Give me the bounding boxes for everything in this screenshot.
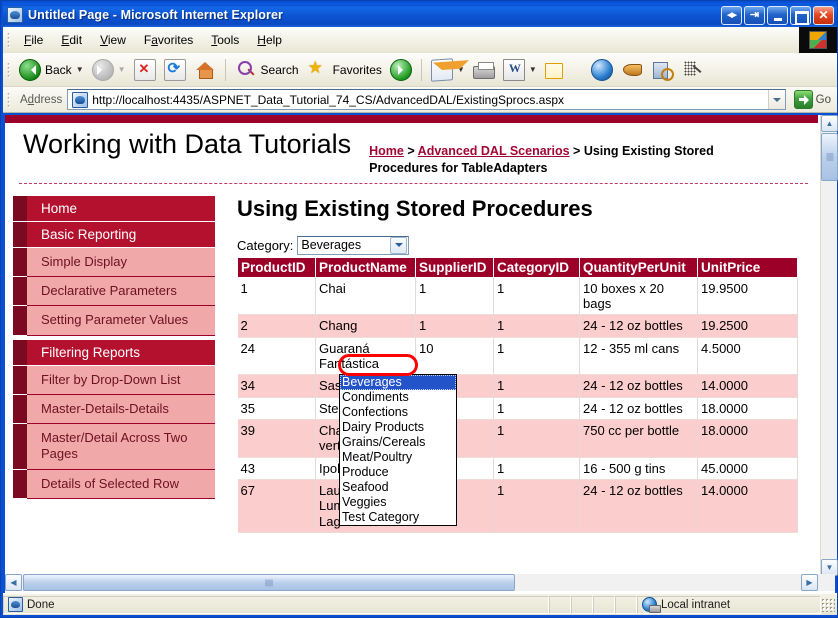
- edit-word-icon: [503, 59, 525, 81]
- cell-categoryid: 1: [494, 457, 580, 479]
- cell-unitprice: 18.0000: [698, 420, 798, 458]
- refresh-button[interactable]: [160, 57, 190, 83]
- cell-categoryid: 1: [494, 397, 580, 419]
- sidebar-item-filter-by-drop-down-list[interactable]: Filter by Drop-Down List: [27, 366, 215, 395]
- globe-icon: [591, 59, 613, 81]
- main-content: Using Existing Stored Procedures Categor…: [215, 184, 818, 533]
- cell-productid: 2: [238, 315, 316, 337]
- restore-right-button[interactable]: [744, 6, 765, 25]
- breadcrumb: Home > Advanced DAL Scenarios > Using Ex…: [369, 143, 719, 177]
- cell-productname: Chai: [316, 277, 416, 315]
- go-button[interactable]: Go: [788, 90, 837, 109]
- cell-unitprice: 4.5000: [698, 337, 798, 375]
- resize-grip[interactable]: [821, 598, 835, 612]
- back-icon: [19, 59, 41, 81]
- sidebar-item-details-of-selected-row[interactable]: Details of Selected Row: [27, 470, 215, 499]
- edit-html-button[interactable]: [677, 57, 707, 83]
- address-grip[interactable]: [7, 92, 10, 108]
- back-button[interactable]: Back ▼: [15, 57, 88, 83]
- research-icon: [651, 59, 673, 81]
- mail-icon: [431, 58, 453, 82]
- ie-document-icon: [7, 7, 23, 23]
- cell-productid: 24: [238, 337, 316, 375]
- cell-supplierid: 10: [416, 337, 494, 375]
- scroll-left-button[interactable]: ◀: [5, 574, 22, 591]
- table-row: 34 Sasquatch Ale 16 1 24 - 12 oz bottles…: [238, 375, 798, 397]
- back-label: Back: [45, 63, 72, 77]
- toolbar-separator-3: [572, 59, 582, 81]
- home-icon: [194, 59, 216, 81]
- vertical-scroll-thumb[interactable]: [821, 133, 838, 181]
- address-url-text: http://localhost:4435/ASPNET_Data_Tutori…: [92, 93, 767, 107]
- sidebar-item-basic-reporting[interactable]: Basic Reporting: [27, 222, 215, 248]
- ie-browser-window: Untitled Page - Microsoft Internet Explo…: [0, 0, 838, 618]
- cell-unitprice: 18.0000: [698, 397, 798, 419]
- page-masthead: Working with Data Tutorials Home > Advan…: [5, 123, 818, 177]
- status-pane-3: [593, 596, 615, 614]
- table-row: 24 Guaraná Fantástica 10 1 12 - 355 ml c…: [238, 337, 798, 375]
- column-header-quantityperunit: QuantityPerUnit: [580, 257, 698, 277]
- category-filter-row: Category: Beverages: [237, 236, 818, 255]
- status-text: Done: [27, 599, 55, 611]
- toolbar-grip[interactable]: [7, 62, 10, 78]
- cell-productid: 35: [238, 397, 316, 419]
- sidebar-item-setting-parameter-values[interactable]: Setting Parameter Values: [27, 306, 215, 335]
- edit-html-icon: [681, 59, 703, 81]
- table-row: 43 Ipoh Coffee 20 1 16 - 500 g tins 45.0…: [238, 457, 798, 479]
- cell-productname: Guaraná Fantástica: [316, 337, 416, 375]
- cell-productname: Chang: [316, 315, 416, 337]
- table-row: 2 Chang 1 1 24 - 12 oz bottles 19.2500: [238, 315, 798, 337]
- menu-bar: File Edit View Favorites Tools Help: [3, 27, 837, 53]
- menu-grip[interactable]: [7, 32, 10, 48]
- windows-logo-icon: [799, 27, 837, 53]
- page-title: Using Existing Stored Procedures: [237, 196, 818, 222]
- home-button[interactable]: [190, 57, 220, 83]
- category-dropdown[interactable]: Beverages: [297, 236, 409, 255]
- column-header-unitprice: UnitPrice: [698, 257, 798, 277]
- dropdown-option-meat-poultry[interactable]: Meat/Poultry: [340, 450, 456, 465]
- dropdown-option-condiments[interactable]: Condiments: [340, 390, 456, 405]
- cell-quantityperunit: 24 - 12 oz bottles: [580, 375, 698, 397]
- cell-unitprice: 45.0000: [698, 457, 798, 479]
- favorites-star-icon: [307, 59, 329, 81]
- status-bar: Done Local intranet: [3, 593, 837, 615]
- window-title: Untitled Page - Microsoft Internet Explo…: [28, 8, 283, 22]
- cell-productid: 67: [238, 480, 316, 533]
- cell-unitprice: 19.2500: [698, 315, 798, 337]
- menu-edit[interactable]: Edit: [52, 30, 91, 50]
- category-dropdown-value: Beverages: [298, 238, 390, 252]
- sidebar-item-home[interactable]: Home: [27, 196, 215, 222]
- address-bar: Address http://localhost:4435/ASPNET_Dat…: [3, 87, 837, 113]
- dropdown-option-beverages[interactable]: Beverages: [340, 375, 456, 390]
- cell-supplierid: 1: [416, 277, 494, 315]
- cell-productid: 39: [238, 420, 316, 458]
- cell-productid: 1: [238, 277, 316, 315]
- column-header-categoryid: CategoryID: [494, 257, 580, 277]
- dropdown-option-grains-cereals[interactable]: Grains/Cereals: [340, 435, 456, 450]
- cell-unitprice: 14.0000: [698, 375, 798, 397]
- cell-quantityperunit: 24 - 12 oz bottles: [580, 480, 698, 533]
- cell-quantityperunit: 16 - 500 g tins: [580, 457, 698, 479]
- go-label: Go: [816, 94, 831, 106]
- menu-view[interactable]: View: [91, 30, 135, 50]
- stop-button[interactable]: [130, 57, 160, 83]
- menu-favorites[interactable]: Favorites: [135, 30, 202, 50]
- menu-tools[interactable]: Tools: [202, 30, 248, 50]
- site-title: Working with Data Tutorials: [5, 129, 351, 160]
- print-icon: [473, 66, 495, 79]
- cell-quantityperunit: 24 - 12 oz bottles: [580, 397, 698, 419]
- minimize-button[interactable]: [767, 6, 788, 25]
- page-vertical-scrollbar[interactable]: ▲ ▼: [820, 115, 837, 576]
- dropdown-option-produce[interactable]: Produce: [340, 465, 456, 480]
- edit-word-button[interactable]: ▼: [499, 57, 541, 83]
- page-viewport: Working with Data Tutorials Home > Advan…: [5, 115, 835, 593]
- security-zone-pane[interactable]: Local intranet: [637, 596, 821, 614]
- window-controls: [721, 6, 837, 25]
- sidebar-item-simple-display[interactable]: Simple Display: [27, 248, 215, 277]
- status-pane-2: [571, 596, 593, 614]
- breadcrumb-link-section[interactable]: Advanced DAL Scenarios: [418, 144, 570, 158]
- cell-quantityperunit: 12 - 355 ml cans: [580, 337, 698, 375]
- status-pane-4: [615, 596, 637, 614]
- forward-icon: [92, 59, 114, 81]
- sidebar-item-filtering-reports[interactable]: Filtering Reports: [27, 340, 215, 366]
- cell-productid: 43: [238, 457, 316, 479]
- cell-categoryid: 1: [494, 375, 580, 397]
- restore-left-button[interactable]: [721, 6, 742, 25]
- nav-group: Home Basic Reporting Simple Display Decl…: [27, 196, 215, 499]
- cell-categoryid: 1: [494, 420, 580, 458]
- security-zone-text: Local intranet: [661, 599, 730, 611]
- products-grid: ProductID ProductName SupplierID Categor…: [237, 257, 798, 533]
- page-favicon-icon: [72, 92, 88, 108]
- title-bar: Untitled Page - Microsoft Internet Explo…: [3, 3, 837, 27]
- page-horizontal-scrollbar[interactable]: ◀ ▶: [5, 574, 835, 591]
- dropdown-option-seafood[interactable]: Seafood: [340, 480, 456, 495]
- research-button[interactable]: [647, 57, 677, 83]
- cell-productid: 34: [238, 375, 316, 397]
- address-history-dropdown-icon[interactable]: [768, 90, 785, 109]
- chevron-down-icon[interactable]: [390, 237, 407, 254]
- go-arrow-icon: [794, 90, 813, 109]
- status-pane-1: [549, 596, 571, 614]
- mail-button[interactable]: ▼: [427, 57, 469, 83]
- address-input[interactable]: http://localhost:4435/ASPNET_Data_Tutori…: [67, 89, 785, 110]
- notes-button[interactable]: [541, 58, 567, 81]
- globe-button[interactable]: [587, 57, 617, 83]
- cell-quantityperunit: 10 boxes x 20 bags: [580, 277, 698, 315]
- table-header-row: ProductID ProductName SupplierID Categor…: [238, 257, 798, 277]
- print-button[interactable]: [469, 59, 499, 81]
- column-header-supplierid: SupplierID: [416, 257, 494, 277]
- table-row: 67 Laughing Lumberjack Lager 16 1 24 - 1…: [238, 480, 798, 533]
- search-label: Search: [261, 63, 299, 77]
- table-row: 35 Steeleye Stout 16 1 24 - 12 oz bottle…: [238, 397, 798, 419]
- table-row: 1 Chai 1 1 10 boxes x 20 bags 19.9500: [238, 277, 798, 315]
- address-label: Address: [15, 94, 67, 106]
- scroll-right-button[interactable]: ▶: [801, 574, 818, 591]
- search-button[interactable]: Search: [231, 57, 303, 83]
- forward-button[interactable]: ▼: [88, 57, 130, 83]
- horizontal-scroll-thumb[interactable]: [23, 574, 515, 591]
- status-text-pane: Done: [3, 596, 549, 614]
- dropdown-option-veggies[interactable]: Veggies: [340, 495, 456, 510]
- menu-help[interactable]: Help: [248, 30, 291, 50]
- breadcrumb-sep-1: >: [404, 144, 418, 158]
- dropdown-option-test-category[interactable]: Test Category: [340, 510, 456, 525]
- category-label: Category:: [237, 238, 293, 253]
- page-status-icon: [8, 597, 23, 612]
- cell-categoryid: 1: [494, 277, 580, 315]
- refresh-icon: [164, 59, 186, 81]
- close-button[interactable]: [813, 6, 834, 25]
- sidebar-nav: Home Basic Reporting Simple Display Decl…: [5, 184, 215, 533]
- category-dropdown-list[interactable]: Beverages Condiments Confections Dairy P…: [339, 374, 457, 526]
- sidebar-item-master-detail-across-two-pages[interactable]: Master/Detail Across Two Pages: [27, 424, 215, 470]
- edit-dropdown-icon[interactable]: ▼: [529, 65, 537, 74]
- cell-categoryid: 1: [494, 315, 580, 337]
- favorites-button[interactable]: Favorites: [303, 57, 386, 83]
- cell-unitprice: 19.9500: [698, 277, 798, 315]
- cell-quantityperunit: 24 - 12 oz bottles: [580, 315, 698, 337]
- toolbar-separator-1: [225, 59, 226, 81]
- cell-supplierid: 1: [416, 315, 494, 337]
- sidebar-item-master-details-details[interactable]: Master-Details-Details: [27, 395, 215, 424]
- cell-unitprice: 14.0000: [698, 480, 798, 533]
- breadcrumb-sep-2: >: [570, 144, 584, 158]
- navigation-toolbar: Back ▼ ▼ Search Favorites: [3, 53, 837, 87]
- dropdown-option-confections[interactable]: Confections: [340, 405, 456, 420]
- sidebar-item-declarative-parameters[interactable]: Declarative Parameters: [27, 277, 215, 306]
- search-icon: [235, 59, 257, 81]
- cell-quantityperunit: 750 cc per bottle: [580, 420, 698, 458]
- table-row: 39 Chartreuse verte 18 1 750 cc per bott…: [238, 420, 798, 458]
- media-button[interactable]: [386, 57, 416, 83]
- notes-icon: [545, 63, 563, 79]
- column-header-productname: ProductName: [316, 257, 416, 277]
- network-zone-icon: [642, 597, 657, 612]
- favorites-label: Favorites: [333, 63, 382, 77]
- page-top-rule: [5, 115, 818, 123]
- maximize-button[interactable]: [790, 6, 811, 25]
- cell-categoryid: 1: [494, 337, 580, 375]
- forward-dropdown-icon[interactable]: ▼: [118, 65, 126, 74]
- cell-categoryid: 1: [494, 480, 580, 533]
- toolbar-separator-2: [421, 59, 422, 81]
- scroll-up-button[interactable]: ▲: [821, 115, 838, 132]
- messenger-icon: [621, 59, 643, 81]
- back-dropdown-icon[interactable]: ▼: [76, 65, 84, 74]
- breadcrumb-link-home[interactable]: Home: [369, 144, 404, 158]
- media-icon: [390, 59, 412, 81]
- messenger-button[interactable]: [617, 57, 647, 83]
- column-header-productid: ProductID: [238, 257, 316, 277]
- dropdown-option-dairy-products[interactable]: Dairy Products: [340, 420, 456, 435]
- menu-file[interactable]: File: [15, 30, 52, 50]
- stop-icon: [134, 59, 156, 81]
